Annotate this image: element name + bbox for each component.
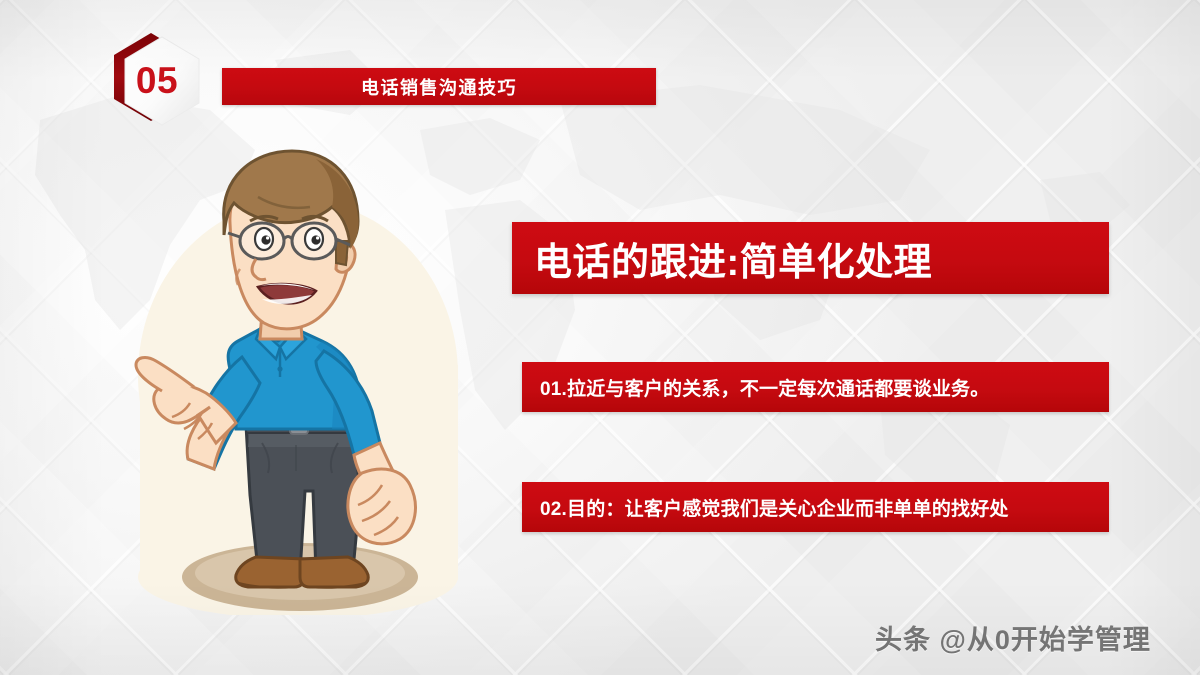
bullet-label-2: 02.目的：让客户感觉我们是关心企业而非单单的找好处 bbox=[540, 482, 1101, 532]
section-title-label: 电话销售沟通技巧 bbox=[222, 68, 656, 105]
main-title-bar: 电话的跟进:简单化处理 bbox=[512, 222, 1109, 294]
section-number-label: 05 bbox=[100, 28, 208, 133]
section-title-bar: 电话销售沟通技巧 bbox=[222, 68, 656, 105]
section-number-badge: 05 bbox=[100, 28, 208, 133]
right-shoe bbox=[300, 557, 368, 587]
bullet-label-1: 01.拉近与客户的关系，不一定每次通话都要谈业务。 bbox=[540, 362, 1101, 412]
left-shoe bbox=[236, 557, 304, 587]
cartoon-man-pointing-illustration bbox=[110, 125, 490, 615]
slide-canvas: 05 电话销售沟通技巧 bbox=[0, 0, 1200, 675]
bullet-bar-1: 01.拉近与客户的关系，不一定每次通话都要谈业务。 bbox=[522, 362, 1109, 412]
bullet-bar-2: 02.目的：让客户感觉我们是关心企业而非单单的找好处 bbox=[522, 482, 1109, 532]
main-title-label: 电话的跟进:简单化处理 bbox=[534, 222, 1099, 294]
watermark-label: 头条 @从0开始学管理 bbox=[875, 618, 1151, 657]
